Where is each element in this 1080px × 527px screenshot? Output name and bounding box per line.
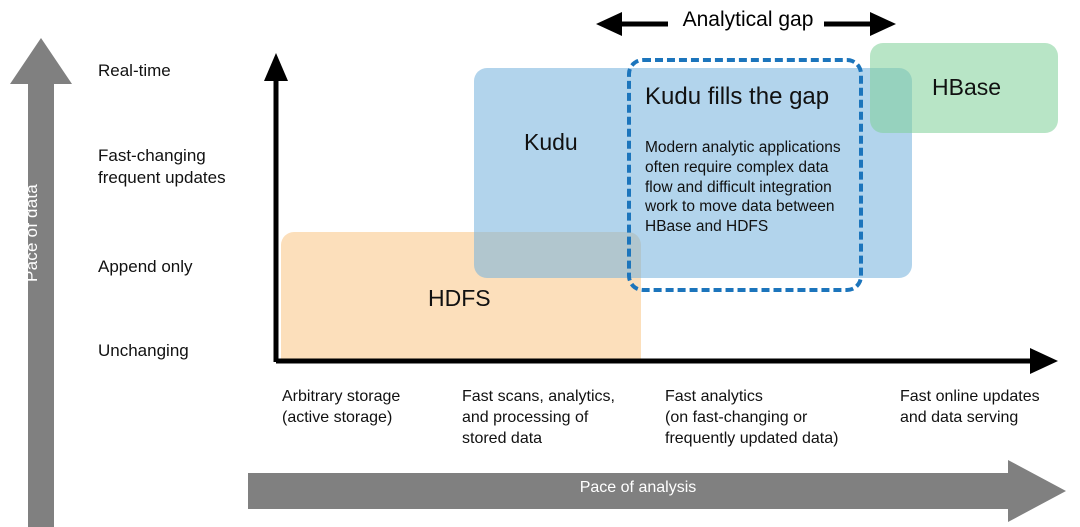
- callout-title: Kudu fills the gap: [645, 84, 860, 110]
- region-kudu-label: Kudu: [524, 129, 578, 156]
- x-category-fast-scans: Fast scans, analytics, and processing of…: [462, 386, 662, 449]
- x-category-1-line1: Fast scans, analytics,: [462, 386, 662, 407]
- x-category-0-line2: (active storage): [282, 407, 462, 428]
- y-category-fast-changing-line1: Fast-changing: [98, 145, 273, 167]
- x-category-fast-analytics: Fast analytics (on fast-changing or freq…: [665, 386, 880, 449]
- callout-body: Modern analytic applications often requi…: [645, 138, 857, 237]
- x-category-2-line1: Fast analytics: [665, 386, 880, 407]
- x-category-1-line2: and processing of: [462, 407, 662, 428]
- pace-of-data-label: Pace of data: [22, 153, 42, 313]
- y-category-unchanging: Unchanging: [98, 340, 273, 362]
- x-category-arbitrary-storage: Arbitrary storage (active storage): [282, 386, 462, 428]
- analytical-gap-label: Analytical gap: [668, 8, 828, 32]
- region-hbase-label: HBase: [932, 74, 1001, 101]
- y-category-real-time: Real-time: [98, 60, 273, 82]
- x-category-2-line2: (on fast-changing or: [665, 407, 880, 428]
- y-category-fast-changing-line2: frequent updates: [98, 167, 273, 189]
- x-category-fast-online-updates: Fast online updates and data serving: [900, 386, 1080, 428]
- pace-of-data-arrow: Pace of data: [10, 38, 72, 527]
- region-hdfs-label: HDFS: [428, 285, 491, 312]
- x-category-2-line3: frequently updated data): [665, 428, 880, 449]
- x-category-3-line2: and data serving: [900, 407, 1080, 428]
- diagram-canvas: Pace of data Real-time Fast-changing fre…: [0, 0, 1080, 527]
- x-category-0-line1: Arbitrary storage: [282, 386, 462, 407]
- x-category-3-line1: Fast online updates: [900, 386, 1080, 407]
- pace-of-analysis-label: Pace of analysis: [248, 479, 1028, 497]
- x-category-1-line3: stored data: [462, 428, 662, 449]
- y-category-fast-changing: Fast-changing frequent updates: [98, 145, 273, 190]
- y-category-append-only: Append only: [98, 256, 273, 278]
